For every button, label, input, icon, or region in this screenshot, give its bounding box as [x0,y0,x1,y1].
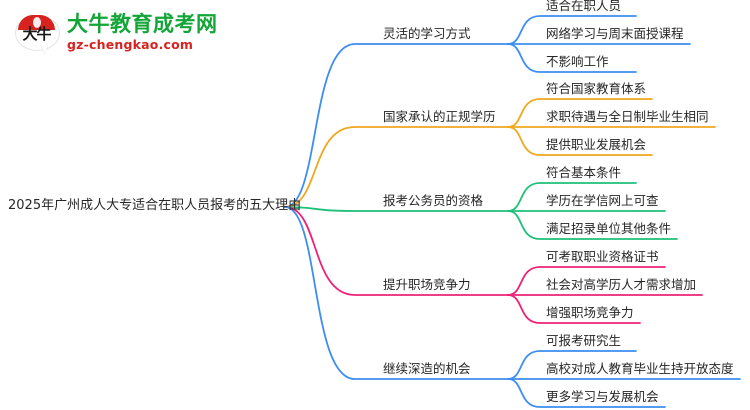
leaf-label-2-1: 符合国家教育体系 [546,82,646,96]
leaf-label-1-2: 网络学习与周末面授课程 [546,27,684,41]
leaf-label-4-3: 增强职场竞争力 [546,306,634,320]
leaf-label-2-3: 提供职业发展机会 [546,138,646,152]
branch-label-3: 报考公务员的资格 [383,194,483,208]
leaf-label-2-2: 求职待遇与全日制毕业生相同 [546,110,709,124]
mindmap-root-label: 2025年广州成人大专适合在职人员报考的五大理由 [8,199,301,213]
branch-label-2: 国家承认的正规学历 [383,110,496,124]
branch-label-1: 灵活的学习方式 [383,27,471,41]
leaf-label-3-2: 学历在学信网上可查 [546,194,659,208]
leaf-label-5-3: 更多学习与发展机会 [546,390,659,404]
leaf-label-5-2: 高校对成人教育毕业生持开放态度 [546,362,734,376]
branch-label-4: 提升职场竞争力 [383,278,471,292]
branch-label-5: 继续深造的机会 [383,362,471,376]
leaf-label-4-2: 社会对高学历人才需求增加 [546,278,696,292]
leaf-label-4-1: 可考取职业资格证书 [546,250,659,264]
leaf-label-3-1: 符合基本条件 [546,166,621,180]
leaf-label-1-1: 适合在职人员 [546,0,621,13]
leaf-label-3-3: 满足招录单位其他条件 [546,222,671,236]
leaf-label-5-1: 可报考研究生 [546,334,621,348]
leaf-label-1-3: 不影响工作 [546,55,609,69]
